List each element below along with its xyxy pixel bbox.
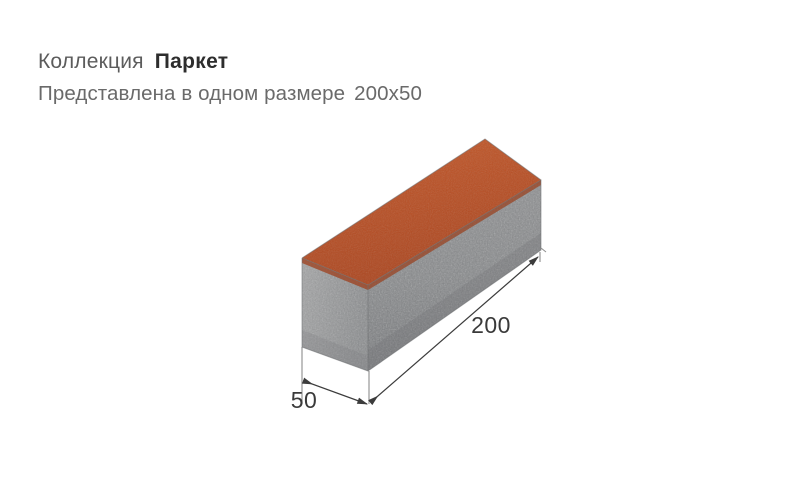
- extension-tick-right: [541, 248, 546, 252]
- dimension-label-50: 50: [291, 387, 318, 413]
- page-root: КоллекцияПаркет Представлена в одном раз…: [0, 0, 800, 496]
- dimension-label-200: 200: [471, 312, 511, 338]
- product-illustration: 50 200: [0, 0, 800, 496]
